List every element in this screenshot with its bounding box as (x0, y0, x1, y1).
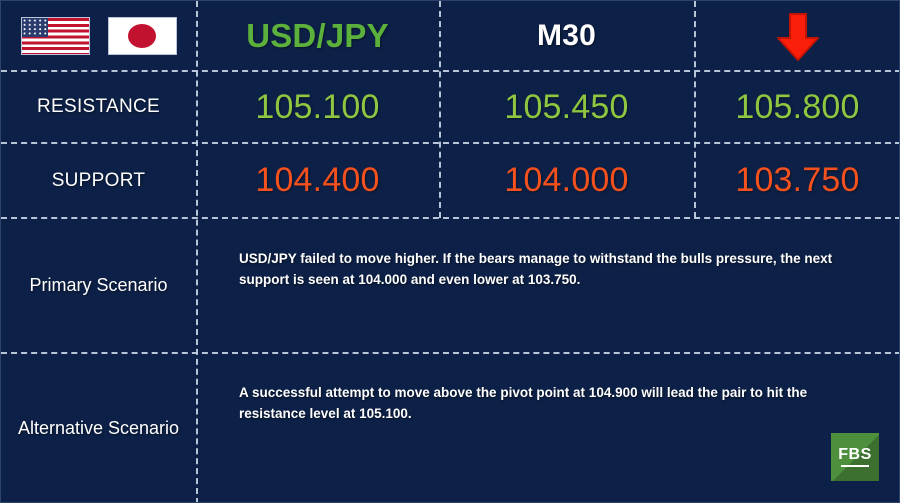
primary-scenario-text: USD/JPY failed to move higher. If the be… (239, 249, 839, 291)
resistance-value-1-cell: 105.100 (196, 71, 439, 143)
fbs-logo: FBS (831, 433, 879, 481)
forex-signal-card: USD/JPY M30 RESISTANCE 105.100 105.450 1… (0, 0, 900, 503)
support-value-2: 104.000 (504, 161, 628, 200)
us-flag-stars (23, 19, 48, 36)
support-value-1: 104.400 (255, 161, 379, 200)
down-arrow-icon (772, 10, 824, 62)
support-value-3: 103.750 (735, 161, 859, 200)
trend-direction-cell (694, 1, 900, 71)
divider-vertical-label-column (196, 1, 198, 503)
resistance-label: RESISTANCE (37, 96, 160, 118)
currency-pair-label: USD/JPY (246, 17, 389, 55)
resistance-value-2: 105.450 (504, 88, 628, 127)
resistance-value-3: 105.800 (735, 88, 859, 127)
support-value-3-cell: 103.750 (694, 143, 900, 218)
divider-horizontal-header (1, 70, 900, 72)
divider-horizontal-resistance (1, 142, 900, 144)
resistance-value-2-cell: 105.450 (439, 71, 694, 143)
divider-vertical-column-3 (694, 1, 696, 218)
alternative-scenario-text: A successful attempt to move above the p… (239, 383, 819, 425)
alternative-scenario-label: Alternative Scenario (18, 415, 179, 441)
primary-scenario-label-cell: Primary Scenario (1, 218, 196, 353)
fbs-logo-text: FBS (831, 446, 879, 464)
support-label-cell: SUPPORT (1, 143, 196, 218)
timeframe-cell: M30 (439, 1, 694, 71)
divider-vertical-column-2 (439, 1, 441, 218)
currency-flags (1, 1, 196, 71)
timeframe-label: M30 (537, 19, 596, 53)
divider-horizontal-support (1, 217, 900, 219)
support-label: SUPPORT (52, 170, 146, 192)
fbs-logo-underline (841, 465, 869, 467)
alternative-scenario-label-cell: Alternative Scenario (1, 353, 196, 503)
us-flag-icon (21, 17, 90, 55)
japan-flag-icon (108, 17, 177, 55)
japan-flag-disc (128, 24, 156, 48)
divider-horizontal-primary (1, 352, 900, 354)
resistance-value-3-cell: 105.800 (694, 71, 900, 143)
resistance-value-1: 105.100 (255, 88, 379, 127)
primary-scenario-label: Primary Scenario (29, 272, 167, 298)
currency-pair-cell: USD/JPY (196, 1, 439, 71)
support-value-1-cell: 104.400 (196, 143, 439, 218)
support-value-2-cell: 104.000 (439, 143, 694, 218)
resistance-label-cell: RESISTANCE (1, 71, 196, 143)
